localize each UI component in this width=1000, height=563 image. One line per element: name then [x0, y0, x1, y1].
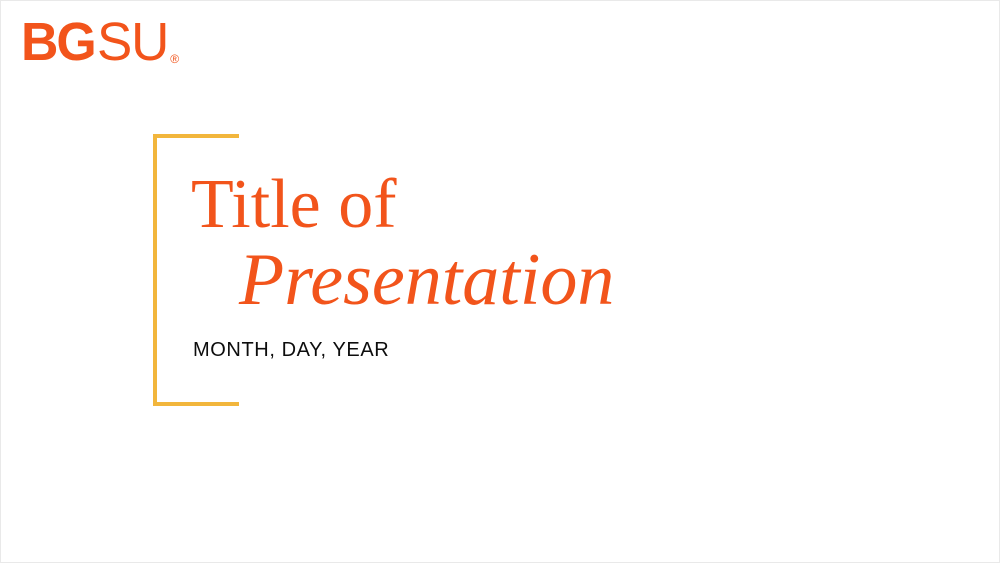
logo-bold-text: BG	[21, 15, 95, 69]
page-title-line-one: Title of	[191, 169, 891, 241]
date-subtitle: MONTH, DAY, YEAR	[193, 338, 389, 362]
title-block: Title of Presentation	[191, 169, 891, 319]
page-title-line-two: Presentation	[239, 241, 891, 319]
presentation-slide: BGSU® Title of Presentation MONTH, DAY, …	[0, 0, 1000, 563]
logo-light-text: SU	[97, 15, 168, 69]
bgsu-logo[interactable]: BGSU®	[21, 15, 179, 67]
registered-trademark-icon: ®	[170, 53, 179, 65]
